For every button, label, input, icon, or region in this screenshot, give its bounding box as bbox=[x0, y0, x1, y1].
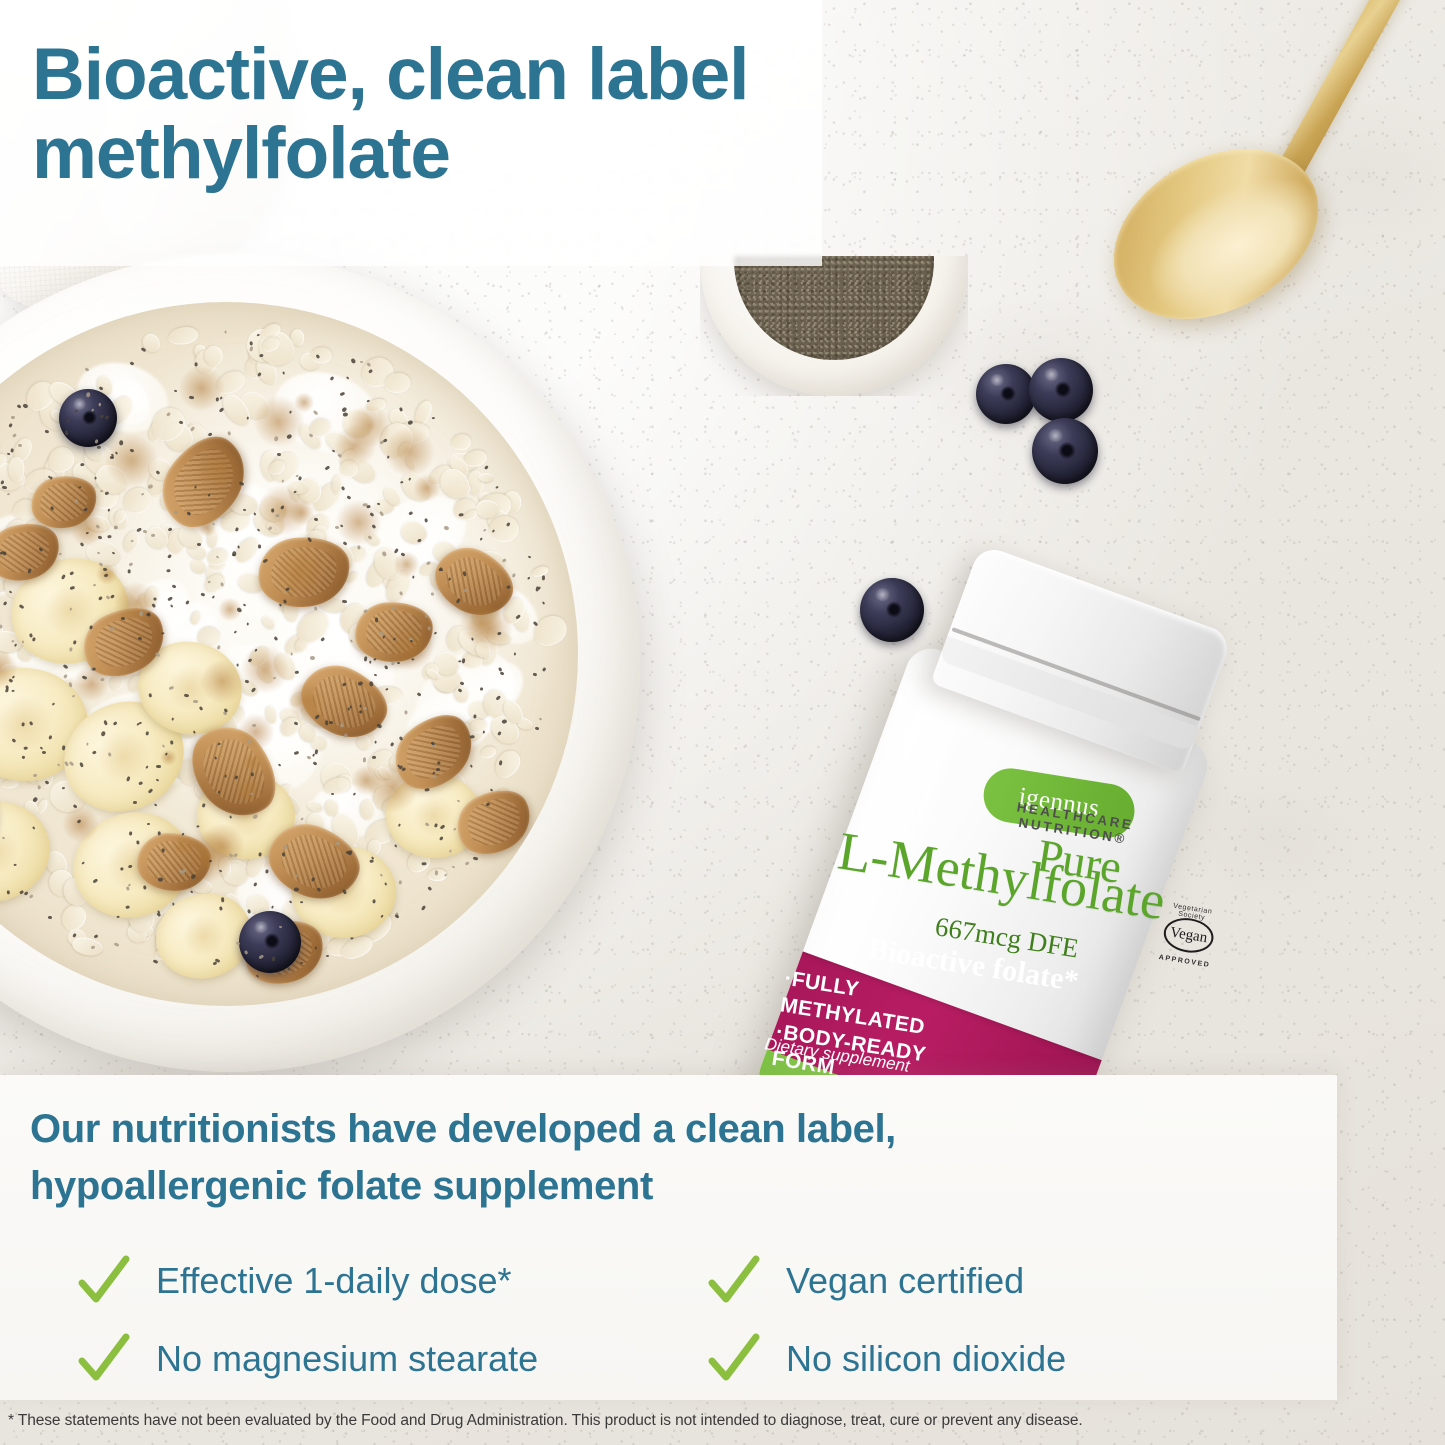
chia-seed bbox=[526, 576, 530, 580]
chia-seed bbox=[274, 436, 278, 441]
chia-seed bbox=[152, 959, 157, 964]
chia-seed bbox=[201, 592, 205, 596]
chia-seed bbox=[324, 465, 330, 471]
chia-seed bbox=[533, 672, 537, 676]
check-icon bbox=[76, 1331, 132, 1387]
vegan-badge-bottom-text: APPROVED bbox=[1151, 953, 1217, 970]
chia-seed bbox=[461, 658, 465, 663]
chia-seed bbox=[360, 360, 364, 363]
check-icon bbox=[706, 1253, 762, 1309]
chia-seed bbox=[48, 916, 52, 919]
feature-label: No silicon dioxide bbox=[786, 1341, 1066, 1377]
chia-seed bbox=[458, 660, 462, 663]
chia-seed bbox=[153, 803, 157, 807]
chia-seed bbox=[115, 451, 118, 454]
chia-seed bbox=[227, 431, 231, 436]
chia-seed bbox=[17, 404, 22, 409]
chia-seed bbox=[24, 891, 29, 896]
chia-seed bbox=[84, 367, 89, 371]
chia-seed bbox=[362, 758, 366, 763]
feature-label: Effective 1-daily dose* bbox=[156, 1263, 512, 1299]
chia-seed bbox=[347, 495, 352, 499]
oat-flake bbox=[531, 565, 550, 579]
chia-seed bbox=[11, 433, 16, 438]
chia-seed bbox=[294, 888, 299, 892]
feature-label: No magnesium stearate bbox=[156, 1341, 538, 1377]
chia-seed bbox=[329, 720, 333, 723]
chia-seed bbox=[314, 606, 317, 610]
chia-seed bbox=[7, 452, 11, 455]
chia-seed bbox=[6, 493, 9, 496]
chia-seed bbox=[28, 894, 33, 899]
chia-seed bbox=[299, 901, 302, 903]
chia-seed bbox=[11, 415, 15, 418]
chia-seed bbox=[249, 341, 253, 346]
blueberry bbox=[239, 911, 301, 973]
chia-seed bbox=[143, 885, 146, 889]
chia-seed bbox=[369, 661, 371, 664]
check-icon bbox=[76, 1253, 132, 1309]
chia-seed bbox=[45, 429, 49, 433]
chia-seed bbox=[166, 568, 171, 572]
chia-seed bbox=[147, 823, 150, 825]
headline-line-1: Bioactive, clean label bbox=[32, 36, 792, 115]
chia-seed bbox=[512, 573, 516, 578]
chia-seed bbox=[68, 682, 72, 687]
oat-flake bbox=[310, 347, 331, 364]
subheadline-line-1: Our nutritionists have developed a clean… bbox=[30, 1101, 1210, 1158]
list-item: Effective 1-daily dose* bbox=[76, 1253, 706, 1309]
chia-seed bbox=[129, 831, 132, 835]
chia-seed bbox=[434, 631, 438, 634]
chia-seed bbox=[97, 445, 101, 448]
chia-seed bbox=[110, 456, 114, 459]
chia-seed bbox=[173, 390, 177, 393]
chia-seed bbox=[431, 592, 434, 596]
chia-seed bbox=[33, 796, 39, 802]
chia-seed bbox=[3, 601, 8, 606]
blueberry bbox=[1029, 358, 1093, 422]
chia-seed bbox=[168, 554, 172, 558]
chia-seed bbox=[194, 485, 196, 488]
headline-line-2: methylfolate bbox=[32, 115, 792, 194]
chia-seed bbox=[464, 861, 469, 866]
chia-seed bbox=[246, 622, 249, 625]
chia-seed bbox=[127, 569, 130, 573]
chia-seed bbox=[514, 652, 517, 655]
chia-seed bbox=[428, 886, 432, 890]
chia-seed bbox=[109, 626, 114, 630]
chia-seed bbox=[432, 417, 435, 419]
product-marketing-image: igennus HEALTHCARE NUTRITION® Pure L-Met… bbox=[0, 0, 1445, 1445]
chia-seed bbox=[212, 596, 215, 599]
chia-seed bbox=[363, 706, 367, 709]
oat-porridge bbox=[0, 302, 578, 1006]
chia-seed bbox=[136, 527, 142, 532]
oat-flake bbox=[205, 345, 224, 366]
chia-seed bbox=[310, 656, 315, 660]
bowl-interior bbox=[0, 302, 578, 1006]
chia-seed bbox=[129, 562, 134, 566]
chia-seed bbox=[341, 486, 345, 491]
chia-seed bbox=[282, 371, 285, 375]
chia-seed bbox=[369, 681, 374, 687]
chia-seed bbox=[184, 694, 189, 698]
chia-seed bbox=[217, 645, 221, 649]
chia-seed bbox=[422, 862, 427, 865]
chia-seed bbox=[197, 543, 201, 546]
fda-disclaimer: * These statements have not been evaluat… bbox=[8, 1412, 1438, 1430]
oat-flake bbox=[8, 456, 24, 481]
chia-seed bbox=[158, 878, 163, 882]
check-icon bbox=[706, 1331, 762, 1387]
chia-seed bbox=[218, 407, 224, 413]
chia-seed bbox=[483, 528, 487, 532]
chia-seed bbox=[220, 897, 224, 902]
oat-flake bbox=[479, 745, 498, 761]
chia-seed bbox=[234, 630, 237, 633]
chia-seed bbox=[506, 585, 510, 588]
chia-seed bbox=[114, 943, 120, 948]
chia-seed-bowl bbox=[700, 256, 968, 396]
oat-flake bbox=[70, 935, 104, 958]
chia-seed bbox=[485, 802, 490, 806]
chia-seed bbox=[61, 786, 64, 789]
chia-seed bbox=[250, 772, 253, 777]
oat-flake bbox=[450, 432, 473, 452]
chia-seed bbox=[271, 508, 274, 512]
chia-seed bbox=[436, 768, 440, 771]
chia-seed bbox=[469, 764, 472, 767]
chia-seed bbox=[411, 658, 415, 661]
chia-seed bbox=[347, 707, 350, 711]
chia-seed bbox=[0, 550, 5, 554]
chia-seed bbox=[374, 740, 377, 743]
benefits-card: Our nutritionists have developed a clean… bbox=[0, 1075, 1337, 1400]
chia-seed bbox=[390, 742, 395, 747]
chia-seed bbox=[421, 904, 426, 910]
oat-flake bbox=[57, 901, 90, 935]
chia-seed bbox=[372, 756, 376, 759]
chia-seed bbox=[117, 916, 120, 918]
chia-seed bbox=[480, 538, 483, 541]
chia-seed bbox=[412, 575, 415, 578]
chia-seed bbox=[224, 330, 227, 333]
chia-seed bbox=[170, 740, 173, 744]
chia-seed bbox=[107, 535, 112, 539]
chia-seed bbox=[451, 866, 454, 869]
chia-seed bbox=[326, 955, 329, 957]
feature-list: Effective 1-daily dose* Vegan certified … bbox=[76, 1253, 1316, 1387]
list-item: Vegan certified bbox=[706, 1253, 1316, 1309]
gold-spoon bbox=[1000, 0, 1445, 358]
oat-flake bbox=[476, 499, 499, 518]
chia-seed bbox=[41, 751, 45, 754]
chia-seed bbox=[498, 760, 502, 765]
chia-seed bbox=[224, 774, 227, 777]
blueberry bbox=[976, 364, 1036, 424]
chia-seed bbox=[11, 690, 14, 692]
headline-banner: Bioactive, clean label methylfolate bbox=[0, 0, 822, 266]
chia-seed bbox=[374, 617, 377, 622]
chia-seed bbox=[350, 358, 356, 364]
chia-seed bbox=[236, 663, 239, 666]
chia-seed bbox=[495, 485, 499, 489]
chia-seed bbox=[9, 423, 13, 427]
chia-seed bbox=[472, 857, 477, 861]
subheadline-line-2: hypoallergenic folate supplement bbox=[30, 1158, 1210, 1215]
blueberry bbox=[1032, 418, 1098, 484]
chia-seed bbox=[331, 793, 334, 796]
chia-seed bbox=[86, 743, 89, 746]
chia-seed bbox=[22, 404, 28, 409]
chia-seed bbox=[528, 555, 532, 558]
chia-seed bbox=[146, 613, 150, 616]
subheadline: Our nutritionists have developed a clean… bbox=[30, 1101, 1210, 1215]
chia-seed bbox=[398, 880, 402, 885]
chia-seed bbox=[370, 859, 374, 862]
chia-seed bbox=[58, 552, 61, 554]
chia-seed bbox=[397, 662, 400, 664]
chia-seed bbox=[14, 864, 17, 866]
feature-label: Vegan certified bbox=[786, 1263, 1024, 1299]
chia-seed bbox=[173, 510, 177, 514]
chia-seed bbox=[283, 852, 286, 856]
chia-seed bbox=[350, 937, 354, 940]
chia-seed bbox=[208, 859, 211, 862]
chia-seed bbox=[395, 914, 400, 919]
oatmeal-bowl bbox=[0, 254, 640, 1072]
chia-seed bbox=[100, 677, 105, 681]
chia-seed bbox=[301, 817, 304, 820]
chia-seed bbox=[94, 934, 99, 938]
list-item: No silicon dioxide bbox=[706, 1331, 1316, 1387]
oat-flake bbox=[0, 422, 1, 439]
chia-seed bbox=[483, 464, 488, 469]
chia-seed bbox=[404, 710, 407, 714]
chia-seed bbox=[37, 785, 40, 789]
chia-seed bbox=[542, 601, 545, 605]
page-title: Bioactive, clean label methylfolate bbox=[32, 36, 792, 194]
chia-seed bbox=[232, 554, 235, 556]
chia-seed bbox=[151, 534, 155, 537]
chia-seed bbox=[100, 490, 103, 493]
chia-seed bbox=[193, 700, 198, 703]
oat-flake bbox=[167, 325, 200, 347]
chia-seed bbox=[444, 873, 448, 877]
chia-seed bbox=[394, 844, 398, 848]
chia-seed bbox=[542, 667, 547, 672]
list-item: No magnesium stearate bbox=[76, 1331, 706, 1387]
chia-seed bbox=[111, 551, 115, 554]
chia-seed bbox=[541, 575, 544, 580]
vegan-approved-badge: Vegetarian Society Vegan APPROVED bbox=[1151, 898, 1227, 974]
chia-seed bbox=[535, 727, 540, 731]
chia-seed bbox=[539, 717, 543, 720]
